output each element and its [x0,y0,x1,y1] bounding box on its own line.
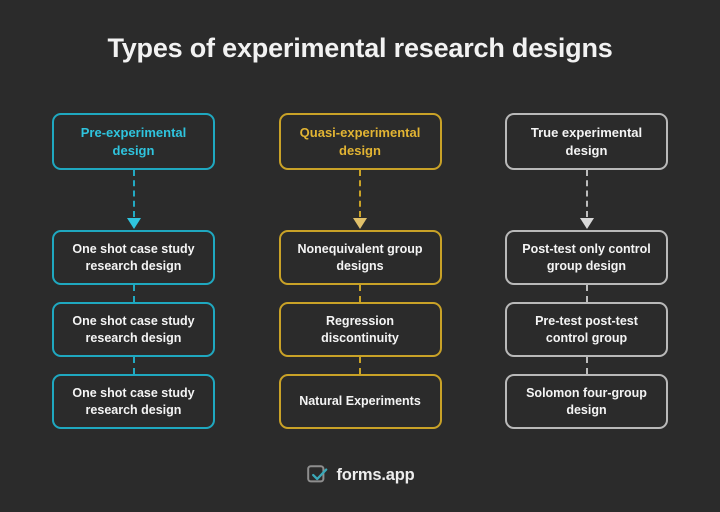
checkbox-check-icon [306,464,329,487]
connector-item-1-to-2 [127,285,141,302]
arrow-head-down-icon [580,218,594,229]
dashed-line [586,285,588,302]
column-true-experimental: True experimental design Post-test only … [505,113,668,429]
columns-container: Pre-experimental design One shot case st… [52,113,668,429]
page-title: Types of experimental research designs [0,34,720,64]
node-true-experimental-3[interactable]: Solomon four-group design [505,374,668,429]
node-pre-experimental-1[interactable]: One shot case study research design [52,230,215,285]
dashed-line [133,170,135,217]
dashed-line [359,170,361,217]
connector-item-1-to-2 [580,285,594,302]
node-true-experimental-1[interactable]: Post-test only control group design [505,230,668,285]
connector-header-to-item-1 [353,170,367,230]
column-header-pre-experimental[interactable]: Pre-experimental design [52,113,215,170]
node-true-experimental-2[interactable]: Pre-test post-test control group [505,302,668,357]
arrow-head-down-icon [127,218,141,229]
connector-item-2-to-3 [580,357,594,374]
brand-wordmark: forms.app [337,466,415,485]
dashed-line [586,357,588,374]
connector-header-to-item-1 [127,170,141,230]
dashed-line [359,285,361,302]
connector-header-to-item-1 [580,170,594,230]
node-quasi-experimental-1[interactable]: Nonequivalent group designs [279,230,442,285]
connector-item-2-to-3 [353,357,367,374]
column-pre-experimental: Pre-experimental design One shot case st… [52,113,215,429]
node-pre-experimental-2[interactable]: One shot case study research design [52,302,215,357]
dashed-line [133,357,135,374]
connector-item-2-to-3 [127,357,141,374]
node-quasi-experimental-3[interactable]: Natural Experiments [279,374,442,429]
column-header-quasi-experimental[interactable]: Quasi-experimental design [279,113,442,170]
column-quasi-experimental: Quasi-experimental design Nonequivalent … [279,113,442,429]
connector-item-1-to-2 [353,285,367,302]
dashed-line [359,357,361,374]
dashed-line [133,285,135,302]
infographic-canvas: Types of experimental research designs P… [0,0,720,512]
column-header-true-experimental[interactable]: True experimental design [505,113,668,170]
node-quasi-experimental-2[interactable]: Regression discontinuity [279,302,442,357]
dashed-line [586,170,588,217]
node-pre-experimental-3[interactable]: One shot case study research design [52,374,215,429]
arrow-head-down-icon [353,218,367,229]
footer-brand[interactable]: forms.app [0,464,720,487]
